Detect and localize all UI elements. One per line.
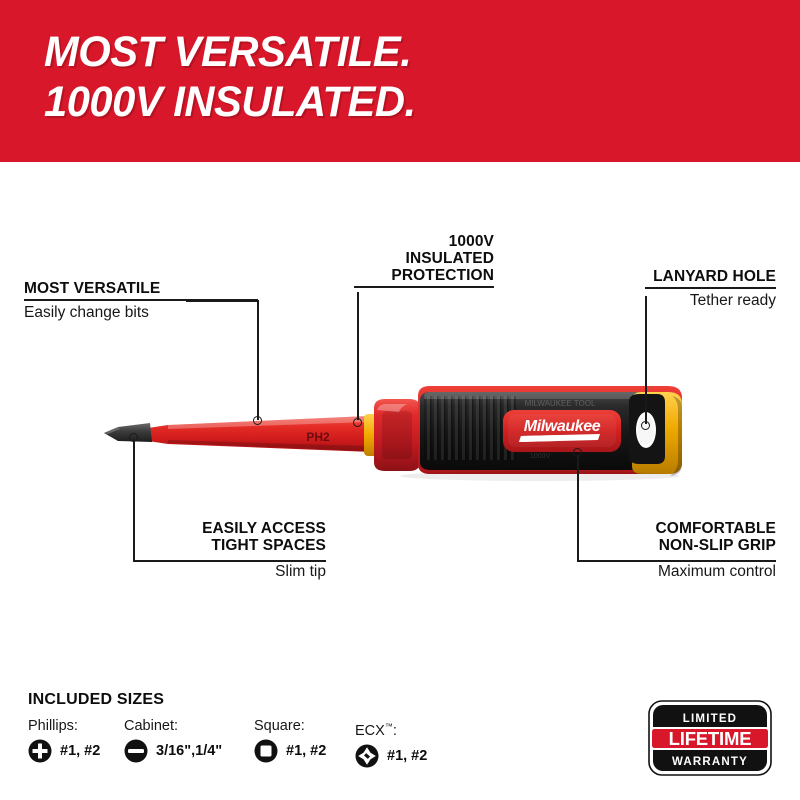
product-image-screwdriver: PH2 MILWAUKEE TOOL 1000V [0,330,800,520]
callout-title-line-3: PROTECTION [354,267,494,284]
size-group-value: #1, #2 [387,748,427,764]
size-group-row: #1, #2 [254,739,326,763]
svg-text:Milwaukee: Milwaukee [524,418,601,435]
callout-rule [24,299,258,301]
included-sizes-heading: INCLUDED SIZES [28,691,164,709]
size-group-square: Square: #1, #2 [254,718,326,763]
callout-title-line-1: EASILY ACCESS [134,520,326,537]
callout-subtitle: Slim tip [134,562,326,582]
callout-comfortable-non-slip-grip: COMFORTABLE NON-SLIP GRIP Maximum contro… [578,520,776,582]
size-group-cabinet: Cabinet: 3/16",1/4" [124,718,222,763]
warranty-top-text: LIMITED [683,713,737,725]
callout-title-line-1: COMFORTABLE [578,520,776,537]
callout-title: MOST VERSATILE [24,280,258,297]
milwaukee-logo: Milwaukee [519,418,601,442]
trademark-symbol: ™ [385,722,393,731]
ecx-bit-icon [355,744,379,768]
size-group-ecx: ECX™: #1, #2 [355,718,427,768]
leader-dot-tight-spaces [129,433,138,442]
size-group-row: #1, #2 [355,744,427,768]
leader-lanyard-vertical [645,296,647,424]
callout-title-line-1: 1000V [354,233,494,250]
warranty-bottom-text: WARRANTY [672,756,748,768]
size-group-label: Square: [254,718,326,735]
callout-title-line-2: NON-SLIP GRIP [578,537,776,554]
header-banner: MOST VERSATILE. 1000V INSULATED. [0,0,800,162]
size-group-label: Phillips: [28,718,100,735]
size-group-row: 3/16",1/4" [124,739,222,763]
callout-lanyard-hole: LANYARD HOLE Tether ready [645,268,776,311]
square-bit-icon [254,739,278,763]
callout-rule [354,286,494,288]
banner-line-2: 1000V INSULATED. [44,77,416,127]
leader-dot-insulated [353,418,362,427]
handle-molded-subtext: 1000V [530,453,551,460]
size-group-phillips: Phillips: #1, #2 [28,718,100,763]
banner-line-1: MOST VERSATILE. [44,27,416,77]
screwdriver-tip [104,423,152,442]
size-group-label: ECX™: [355,718,427,740]
callout-easily-access-tight-spaces: EASILY ACCESS TIGHT SPACES Slim tip [134,520,326,582]
size-group-value: #1, #2 [286,743,326,759]
shaft-marking-label: PH2 [306,430,330,444]
callout-title-line-2: TIGHT SPACES [134,537,326,554]
header-banner-text: MOST VERSATILE. 1000V INSULATED. [44,27,427,127]
callout-subtitle: Maximum control [578,562,776,582]
callout-title-line-2: INSULATED [354,250,494,267]
lanyard-hole [629,392,682,476]
size-group-label-suffix: : [393,723,397,739]
leader-dot-most-versatile [253,416,262,425]
callout-subtitle: Tether ready [645,291,776,311]
screwdriver-shaft: PH2 [128,416,372,452]
size-group-label-text: ECX [355,723,385,739]
handle-bolster [374,399,420,471]
callout-title: LANYARD HOLE [645,268,776,285]
slotted-bit-icon [124,739,148,763]
callout-most-versatile: MOST VERSATILE Easily change bits [24,280,258,323]
infographic-page: MOST VERSATILE. 1000V INSULATED. [0,0,800,800]
phillips-bit-icon [28,739,52,763]
handle-logo-plate: Milwaukee [503,410,621,452]
callout-insulated-protection: 1000V INSULATED PROTECTION [354,233,494,290]
leader-insulated-vertical [357,292,359,420]
leader-dot-grip [573,448,582,457]
callout-rule [645,287,776,289]
size-group-value: #1, #2 [60,743,100,759]
size-group-label: Cabinet: [124,718,222,735]
limited-lifetime-warranty-badge: LIMITED LIFETIME WARRANTY [648,700,772,776]
size-group-row: #1, #2 [28,739,100,763]
callout-subtitle: Easily change bits [24,303,258,323]
size-group-value: 3/16",1/4" [156,743,222,759]
handle-molded-text: MILWAUKEE TOOL [525,399,596,408]
leader-dot-lanyard [641,421,650,430]
warranty-middle-text: LIFETIME [669,728,752,749]
